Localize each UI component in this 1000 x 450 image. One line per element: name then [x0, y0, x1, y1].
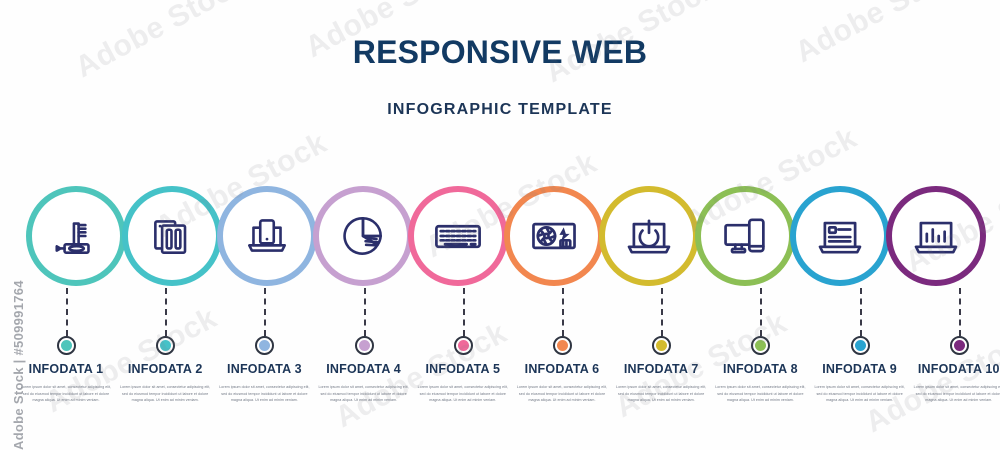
- infodata-body-6: Lorem ipsum dolor sit amet, consectetur …: [514, 384, 610, 404]
- laptop-power-button-icon: [622, 209, 676, 263]
- infodata-column-3: INFODATA 3Lorem ipsum dolor sit amet, co…: [216, 362, 312, 404]
- pie-chart-icon: [337, 210, 389, 262]
- infodata-column-5: INFODATA 5Lorem ipsum dolor sit amet, co…: [415, 362, 511, 404]
- icon-circle-10[interactable]: [886, 186, 986, 286]
- connector-dot-4[interactable]: [355, 336, 374, 355]
- connector-dot-10[interactable]: [950, 336, 969, 355]
- infodata-label-5: INFODATA 5: [415, 362, 511, 376]
- icon-circle-9[interactable]: [790, 186, 890, 286]
- infodata-body-2: Lorem ipsum dolor sit amet, consectetur …: [117, 384, 213, 404]
- infographic-canvas: responsive web infographic template: [0, 0, 1000, 450]
- infodata-label-7: INFODATA 7: [613, 362, 709, 376]
- connector-dot-fill: [755, 340, 766, 351]
- connector-dot-5[interactable]: [454, 336, 473, 355]
- connector-dot-9[interactable]: [851, 336, 870, 355]
- infodata-column-7: INFODATA 7Lorem ipsum dolor sit amet, co…: [613, 362, 709, 404]
- connector-dot-7[interactable]: [652, 336, 671, 355]
- connector-dot-1[interactable]: [57, 336, 76, 355]
- connector-row: [0, 288, 1000, 360]
- connector-dot-6[interactable]: [553, 336, 572, 355]
- connector-dot-fill: [160, 340, 171, 351]
- connector-dot-fill: [656, 340, 667, 351]
- monitor-smartphone-icon: [718, 209, 772, 263]
- icon-circle-5[interactable]: [408, 186, 508, 286]
- laptop-smartphone-icon: [241, 210, 293, 262]
- infodata-body-8: Lorem ipsum dolor sit amet, consectetur …: [712, 384, 808, 404]
- connector-line-4: [364, 288, 366, 336]
- connector-dot-3[interactable]: [255, 336, 274, 355]
- infodata-label-4: INFODATA 4: [316, 362, 412, 376]
- connector-line-8: [760, 288, 762, 336]
- infodata-body-5: Lorem ipsum dolor sit amet, consectetur …: [415, 384, 511, 404]
- connector-dot-fill: [855, 340, 866, 351]
- infodata-column-4: INFODATA 4Lorem ipsum dolor sit amet, co…: [316, 362, 412, 404]
- connector-line-3: [264, 288, 266, 336]
- infodata-label-1: INFODATA 1: [18, 362, 114, 376]
- connector-dot-fill: [259, 340, 270, 351]
- router-antenna-icon: [50, 210, 102, 262]
- connector-line-7: [661, 288, 663, 336]
- stacked-tablets-icon: [146, 210, 198, 262]
- infodata-label-2: INFODATA 2: [117, 362, 213, 376]
- infodata-column-9: INFODATA 9Lorem ipsum dolor sit amet, co…: [812, 362, 908, 404]
- infodata-label-8: INFODATA 8: [712, 362, 808, 376]
- icon-circle-8[interactable]: [695, 186, 795, 286]
- infodata-column-8: INFODATA 8Lorem ipsum dolor sit amet, co…: [712, 362, 808, 404]
- keyboard-icon: [431, 209, 485, 263]
- icon-circle-7[interactable]: [599, 186, 699, 286]
- connector-dot-2[interactable]: [156, 336, 175, 355]
- connector-line-6: [562, 288, 564, 336]
- icon-circle-row: [0, 186, 1000, 290]
- infodata-label-10: INFODATA 10: [911, 362, 1000, 376]
- infodata-column-1: INFODATA 1Lorem ipsum dolor sit amet, co…: [18, 362, 114, 404]
- infodata-column-row: INFODATA 1Lorem ipsum dolor sit amet, co…: [0, 362, 1000, 442]
- infodata-label-9: INFODATA 9: [812, 362, 908, 376]
- infodata-column-6: INFODATA 6Lorem ipsum dolor sit amet, co…: [514, 362, 610, 404]
- laptop-document-icon: [813, 209, 867, 263]
- icon-circle-2[interactable]: [122, 186, 222, 286]
- infodata-body-4: Lorem ipsum dolor sit amet, consectetur …: [316, 384, 412, 404]
- connector-dot-fill: [61, 340, 72, 351]
- connector-dot-fill: [954, 340, 965, 351]
- graphics-card-icon: [527, 209, 581, 263]
- infodata-label-6: INFODATA 6: [514, 362, 610, 376]
- laptop-bar-chart-icon: [909, 209, 963, 263]
- connector-line-9: [860, 288, 862, 336]
- infodata-body-7: Lorem ipsum dolor sit amet, consectetur …: [613, 384, 709, 404]
- icon-circle-3[interactable]: [217, 186, 317, 286]
- infodata-label-3: INFODATA 3: [216, 362, 312, 376]
- page-subtitle: infographic template: [0, 101, 1000, 119]
- icon-circle-6[interactable]: [504, 186, 604, 286]
- infodata-body-9: Lorem ipsum dolor sit amet, consectetur …: [812, 384, 908, 404]
- infodata-column-10: INFODATA 10Lorem ipsum dolor sit amet, c…: [911, 362, 1000, 404]
- connector-dot-fill: [458, 340, 469, 351]
- connector-dot-fill: [359, 340, 370, 351]
- connector-line-1: [66, 288, 68, 336]
- connector-dot-fill: [557, 340, 568, 351]
- infodata-column-2: INFODATA 2Lorem ipsum dolor sit amet, co…: [117, 362, 213, 404]
- icon-circle-4[interactable]: [313, 186, 413, 286]
- infodata-body-1: Lorem ipsum dolor sit amet, consectetur …: [18, 384, 114, 404]
- infodata-body-10: Lorem ipsum dolor sit amet, consectetur …: [911, 384, 1000, 404]
- page-title: responsive web: [0, 34, 1000, 71]
- connector-line-10: [959, 288, 961, 336]
- connector-line-5: [463, 288, 465, 336]
- connector-dot-8[interactable]: [751, 336, 770, 355]
- infodata-body-3: Lorem ipsum dolor sit amet, consectetur …: [216, 384, 312, 404]
- connector-line-2: [165, 288, 167, 336]
- icon-circle-1[interactable]: [26, 186, 126, 286]
